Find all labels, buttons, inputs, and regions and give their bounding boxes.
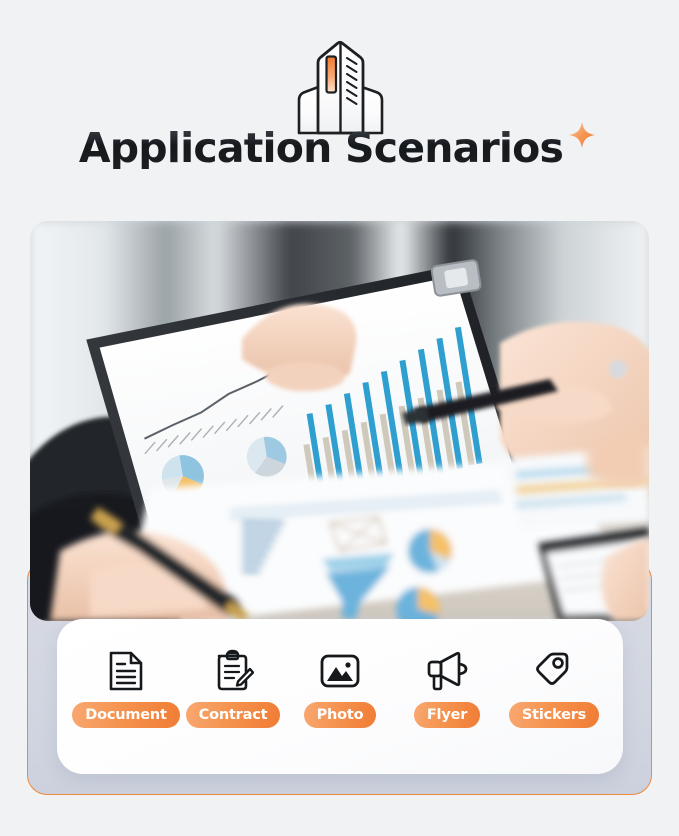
category-pill-document[interactable]: Document xyxy=(72,702,180,728)
page-header: Application Scenarios xyxy=(0,0,679,212)
business-meeting-reviewing-reports-photo xyxy=(30,221,649,621)
page-title: Application Scenarios xyxy=(79,128,563,169)
megaphone-icon xyxy=(425,649,469,693)
category-item-photo[interactable]: Photo xyxy=(287,649,394,728)
title-row: Application Scenarios xyxy=(0,128,679,169)
category-item-stickers[interactable]: Stickers xyxy=(501,649,608,728)
category-card: Document Contract xyxy=(57,619,623,774)
category-item-contract[interactable]: Contract xyxy=(180,649,287,728)
clipboard-pen-icon xyxy=(212,649,254,693)
category-pill-flyer[interactable]: Flyer xyxy=(414,702,480,728)
category-pill-stickers[interactable]: Stickers xyxy=(509,702,599,728)
document-icon xyxy=(107,649,145,693)
category-item-document[interactable]: Document xyxy=(73,649,180,728)
category-pill-contract[interactable]: Contract xyxy=(186,702,281,728)
category-pill-photo[interactable]: Photo xyxy=(304,702,377,728)
image-icon xyxy=(319,649,361,693)
sparkle-star-icon xyxy=(564,119,600,160)
category-item-flyer[interactable]: Flyer xyxy=(394,649,501,728)
price-tag-icon xyxy=(533,649,575,693)
